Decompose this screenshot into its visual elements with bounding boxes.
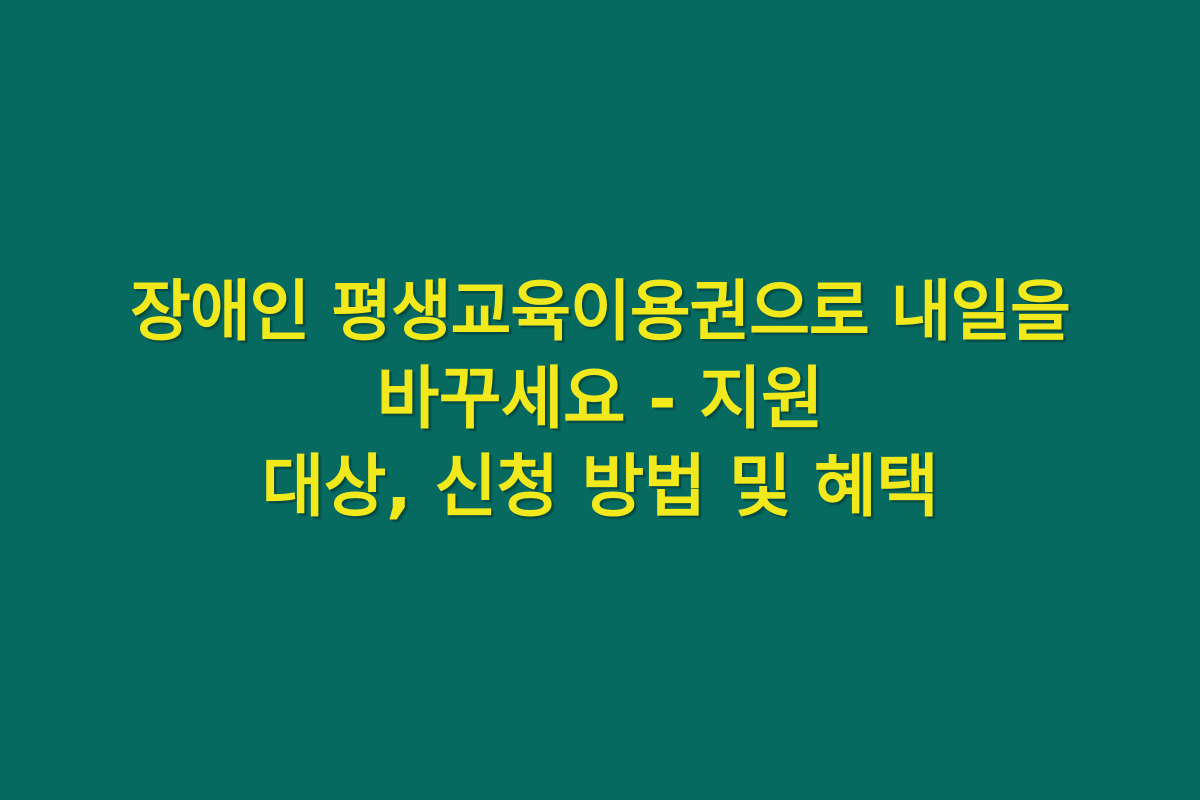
title-banner: 장애인 평생교육이용권으로 내일을 바꾸세요 - 지원 대상, 신청 방법 및 …: [0, 0, 1200, 800]
page-title: 장애인 평생교육이용권으로 내일을 바꾸세요 - 지원 대상, 신청 방법 및 …: [10, 268, 1190, 532]
title-line-1: 장애인 평생교육이용권으로 내일을: [130, 268, 1070, 356]
title-line-3: 대상, 신청 방법 및 혜택: [262, 444, 939, 532]
title-line-2: 바꾸세요 - 지원: [377, 356, 823, 444]
